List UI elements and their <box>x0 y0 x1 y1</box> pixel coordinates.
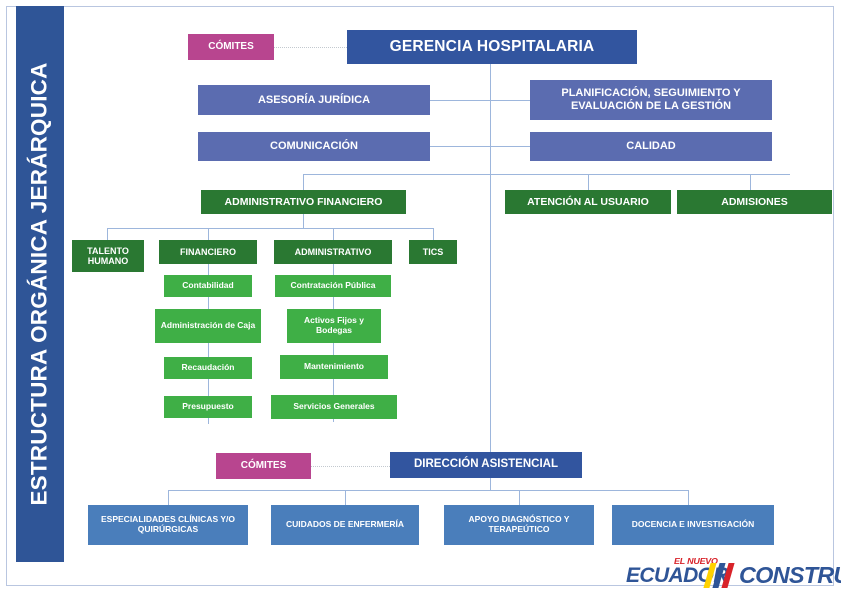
node-servicios-generales[interactable]: Servicios Generales <box>271 395 397 419</box>
connector-drop-admisiones <box>750 174 751 190</box>
node-label: PLANIFICACIÓN, SEGUIMIENTO Y EVALUACIÓN … <box>534 87 768 112</box>
page-title: ESTRUCTURA ORGÁNICA JERÁRQUICA <box>27 62 53 505</box>
node-label: Activos Fijos y Bodegas <box>291 316 377 336</box>
node-label: ESPECIALIDADES CLÍNICAS Y/O QUIRÚRGICAS <box>92 515 244 535</box>
node-label: APOYO DIAGNÓSTICO Y TERAPEÚTICO <box>448 515 590 535</box>
node-label: Presupuesto <box>182 402 234 412</box>
node-presupuesto[interactable]: Presupuesto <box>164 396 252 418</box>
node-label: Servicios Generales <box>293 402 374 412</box>
node-direccion-asistencial[interactable]: DIRECCIÓN ASISTENCIAL <box>390 452 582 478</box>
node-label: Contratación Pública <box>290 281 375 291</box>
vertical-title-band: ESTRUCTURA ORGÁNICA JERÁRQUICA <box>16 6 64 562</box>
flag-slashes-icon <box>707 563 737 588</box>
node-label: DOCENCIA E INVESTIGACIÓN <box>632 520 754 530</box>
node-gerencia-hospitalaria[interactable]: GERENCIA HOSPITALARIA <box>347 30 637 64</box>
node-docencia-e-investigacion[interactable]: DOCENCIA E INVESTIGACIÓN <box>612 505 774 545</box>
node-label: ASESORÍA JURÍDICA <box>258 94 370 107</box>
connector-dir-stem <box>490 478 491 490</box>
connector-drop-administrativo <box>333 228 334 240</box>
node-administracion-de-caja[interactable]: Administración de Caja <box>155 309 261 343</box>
node-cuidados-de-enfermeria[interactable]: CUIDADOS DE ENFERMERÍA <box>271 505 419 545</box>
node-administrativo-financiero[interactable]: ADMINISTRATIVO FINANCIERO <box>201 190 406 214</box>
connector-staff-row2 <box>430 146 530 147</box>
node-label: ATENCIÓN AL USUARIO <box>527 196 649 208</box>
node-tics[interactable]: TICS <box>409 240 457 264</box>
org-chart-canvas: ESTRUCTURA ORGÁNICA JERÁRQUICA CÓMITES G… <box>0 0 841 592</box>
node-label: ADMINISTRATIVO <box>295 247 372 257</box>
node-activos-fijos-y-bodegas[interactable]: Activos Fijos y Bodegas <box>287 309 381 343</box>
node-planificacion-seguimiento-evaluacion[interactable]: PLANIFICACIÓN, SEGUIMIENTO Y EVALUACIÓN … <box>530 80 772 120</box>
connector-drop-tics <box>433 228 434 240</box>
connector-drop-atencion <box>588 174 589 190</box>
connector-drop-talento <box>107 228 108 240</box>
node-label: CALIDAD <box>626 140 676 153</box>
node-administrativo[interactable]: ADMINISTRATIVO <box>274 240 392 264</box>
connector-drop-admfin <box>303 174 304 190</box>
connector-staff-row1 <box>430 100 530 101</box>
node-apoyo-diagnostico-terapeutico[interactable]: APOYO DIAGNÓSTICO Y TERAPEÚTICO <box>444 505 594 545</box>
node-especialidades-clinicas-quirurgicas[interactable]: ESPECIALIDADES CLÍNICAS Y/O QUIRÚRGICAS <box>88 505 248 545</box>
node-calidad[interactable]: CALIDAD <box>530 132 772 161</box>
node-label: ADMISIONES <box>721 196 788 208</box>
node-atencion-al-usuario[interactable]: ATENCIÓN AL USUARIO <box>505 190 671 214</box>
connector-asistencial-bus <box>168 490 688 491</box>
connector-dotted-committees-top <box>272 47 347 48</box>
node-label: CÓMITES <box>241 460 287 472</box>
node-label: Mantenimiento <box>304 362 364 372</box>
node-admisiones[interactable]: ADMISIONES <box>677 190 832 214</box>
connector-drop-financiero <box>208 228 209 240</box>
node-asesoria-juridica[interactable]: ASESORÍA JURÍDICA <box>198 85 430 115</box>
node-financiero[interactable]: FINANCIERO <box>159 240 257 264</box>
node-contratacion-publica[interactable]: Contratación Pública <box>275 275 391 297</box>
node-comunicacion[interactable]: COMUNICACIÓN <box>198 132 430 161</box>
node-committees-top[interactable]: CÓMITES <box>188 34 274 60</box>
ecuador-construye-logo: EL NUEVO ECUADOR CONSTRUYE <box>624 556 836 590</box>
node-label: Recaudación <box>182 363 235 373</box>
connector-dotted-committees-bottom <box>311 466 390 467</box>
node-label: CUIDADOS DE ENFERMERÍA <box>286 520 404 530</box>
node-label: GERENCIA HOSPITALARIA <box>390 38 595 56</box>
connector-main-spine <box>490 64 491 452</box>
node-label: CÓMITES <box>208 41 254 53</box>
node-label: TALENTO HUMANO <box>76 246 140 267</box>
connector-dept-bus <box>107 228 434 229</box>
node-committees-bottom[interactable]: CÓMITES <box>216 453 311 479</box>
logo-construye-text: CONSTRUYE <box>739 562 841 589</box>
node-label: FINANCIERO <box>180 247 236 257</box>
connector-admfin-stem <box>303 214 304 228</box>
node-label: DIRECCIÓN ASISTENCIAL <box>414 458 558 471</box>
node-recaudacion[interactable]: Recaudación <box>164 357 252 379</box>
node-label: Contabilidad <box>182 281 233 291</box>
node-label: COMUNICACIÓN <box>270 140 358 153</box>
node-label: Administración de Caja <box>161 321 255 331</box>
connector-level2-bus <box>303 174 790 175</box>
node-contabilidad[interactable]: Contabilidad <box>164 275 252 297</box>
node-label: ADMINISTRATIVO FINANCIERO <box>225 196 383 208</box>
node-mantenimiento[interactable]: Mantenimiento <box>280 355 388 379</box>
node-label: TICS <box>423 247 444 257</box>
node-talento-humano[interactable]: TALENTO HUMANO <box>72 240 144 272</box>
